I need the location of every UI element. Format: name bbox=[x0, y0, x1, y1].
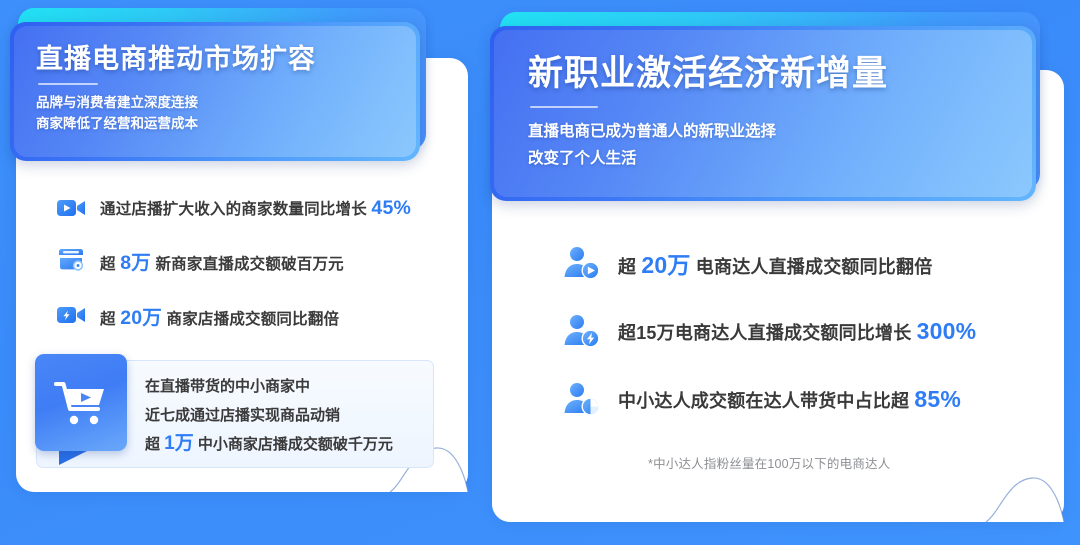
left-stat-text: 超 20万 商家店播成交额同比翻倍 bbox=[100, 301, 339, 330]
right-header-title: 新职业激活经济新增量 bbox=[528, 52, 1032, 96]
right-stat-text: 超 20万 电商达人直播成交额同比翻倍 bbox=[618, 246, 932, 280]
right-header-subtitle-line-2: 改变了个人生活 bbox=[528, 145, 1032, 172]
left-stat-prefix: 超 bbox=[100, 311, 120, 328]
left-highlight-line: 在直播带货的中小商家中 bbox=[145, 375, 393, 398]
left-stat-prefix: 通过店播扩大收入的商家数量同比增长 bbox=[100, 201, 371, 218]
right-stat-text: 超15万电商达人直播成交额同比增长 300% bbox=[618, 318, 976, 345]
shopping-cart-play-icon bbox=[35, 354, 127, 451]
left-stat-row: 超 8万 新商家直播成交额破百万元 bbox=[56, 245, 344, 275]
right-stat-text: 中小达人成交额在达人带货中占比超 85% bbox=[618, 386, 961, 413]
left-header-subtitle-line-2: 商家降低了经营和运营成本 bbox=[36, 113, 416, 134]
left-highlight-lines: 在直播带货的中小商家中 近七成通过店播实现商品动销 超 1万 中小商家店播成交额… bbox=[145, 375, 393, 456]
left-header-divider bbox=[38, 83, 98, 85]
left-highlight-prefix: 近七成通过店播实现商品动销 bbox=[145, 407, 340, 424]
right-stat-value: 20万 bbox=[641, 252, 690, 278]
store-icon bbox=[56, 245, 86, 275]
right-stat-row: 超15万电商达人直播成交额同比增长 300% bbox=[562, 311, 976, 351]
left-highlight-card: 在直播带货的中小商家中 近七成通过店播实现商品动销 超 1万 中小商家店播成交额… bbox=[36, 360, 434, 468]
left-header-title: 直播电商推动市场扩容 bbox=[36, 42, 416, 76]
right-stat-value: 300% bbox=[917, 318, 977, 344]
right-header-subtitle-line-1: 直播电商已成为普通人的新职业选择 bbox=[528, 118, 1032, 145]
right-card-corner-curl bbox=[986, 466, 1064, 522]
left-stat-value: 8万 bbox=[120, 252, 151, 274]
left-highlight-card-tail bbox=[59, 451, 87, 465]
video-camera-icon bbox=[56, 193, 86, 223]
right-stat-value: 85% bbox=[914, 386, 961, 412]
left-stat-text: 通过店播扩大收入的商家数量同比增长 45% bbox=[100, 197, 411, 220]
right-stat-prefix: 超 bbox=[618, 257, 641, 277]
person-pie-icon bbox=[562, 379, 602, 419]
video-camera-bolt-icon bbox=[56, 300, 86, 330]
person-play-icon bbox=[562, 243, 602, 283]
left-stat-row: 超 20万 商家店播成交额同比翻倍 bbox=[56, 300, 339, 330]
left-header-subtitle-line-1: 品牌与消费者建立深度连接 bbox=[36, 92, 416, 113]
left-stat-row: 通过店播扩大收入的商家数量同比增长 45% bbox=[56, 193, 411, 223]
right-stat-row: 中小达人成交额在达人带货中占比超 85% bbox=[562, 379, 961, 419]
right-header-subtitle: 直播电商已成为普通人的新职业选择 改变了个人生活 bbox=[528, 118, 1032, 172]
left-highlight-prefix: 超 bbox=[145, 436, 164, 453]
right-stat-prefix: 中小达人成交额在达人带货中占比超 bbox=[618, 391, 914, 411]
left-highlight-suffix: 中小商家店播成交额破千万元 bbox=[194, 436, 393, 453]
infographic-stage: 直播电商推动市场扩容 品牌与消费者建立深度连接 商家降低了经营和运营成本 通过店… bbox=[0, 0, 1080, 545]
right-stat-prefix: 超15万电商达人直播成交额同比增长 bbox=[618, 323, 917, 343]
right-header-divider bbox=[530, 106, 598, 108]
right-panel-footnote: *中小达人指粉丝量在100万以下的电商达人 bbox=[648, 453, 890, 472]
left-highlight-line: 超 1万 中小商家店播成交额破千万元 bbox=[145, 433, 393, 456]
left-header-subtitle: 品牌与消费者建立深度连接 商家降低了经营和运营成本 bbox=[36, 92, 416, 134]
left-stat-prefix: 超 bbox=[100, 256, 120, 273]
left-stat-value: 45% bbox=[371, 197, 411, 219]
left-stat-text: 超 8万 新商家直播成交额破百万元 bbox=[100, 246, 344, 275]
right-stat-row: 超 20万 电商达人直播成交额同比翻倍 bbox=[562, 243, 932, 283]
left-stat-suffix: 商家店播成交额同比翻倍 bbox=[162, 311, 339, 328]
right-stat-suffix: 电商达人直播成交额同比翻倍 bbox=[691, 257, 933, 277]
left-header-card: 直播电商推动市场扩容 品牌与消费者建立深度连接 商家降低了经营和运营成本 bbox=[10, 22, 420, 161]
left-stat-value: 20万 bbox=[120, 307, 162, 329]
right-header-card: 新职业激活经济新增量 直播电商已成为普通人的新职业选择 改变了个人生活 bbox=[490, 26, 1036, 201]
left-highlight-line: 近七成通过店播实现商品动销 bbox=[145, 404, 393, 427]
left-highlight-value: 1万 bbox=[164, 433, 194, 454]
left-stat-suffix: 新商家直播成交额破百万元 bbox=[151, 256, 344, 273]
person-bolt-icon bbox=[562, 311, 602, 351]
left-highlight-prefix: 在直播带货的中小商家中 bbox=[145, 378, 310, 395]
